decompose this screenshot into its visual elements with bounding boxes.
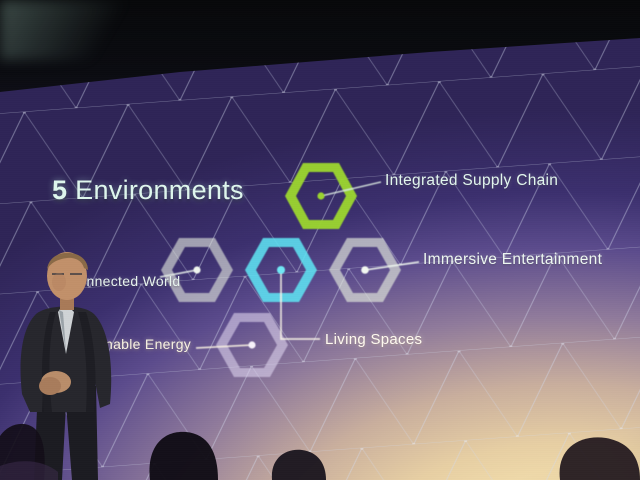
label-living-spaces: Living Spaces: [325, 331, 422, 348]
audience-silhouettes: [0, 394, 640, 480]
presentation-photo: 5 Environments Integrated Supply Chain I…: [0, 0, 640, 480]
label-immersive-entertainment: Immersive Entertainment: [423, 251, 602, 269]
title-number: 5: [52, 175, 67, 205]
title-word: Environments: [75, 175, 244, 205]
page-title: 5 Environments: [52, 175, 244, 206]
ceiling-light-sheen: [0, 0, 150, 60]
connector-living-spaces: [277, 266, 320, 339]
label-integrated-supply-chain: Integrated Supply Chain: [385, 172, 558, 190]
